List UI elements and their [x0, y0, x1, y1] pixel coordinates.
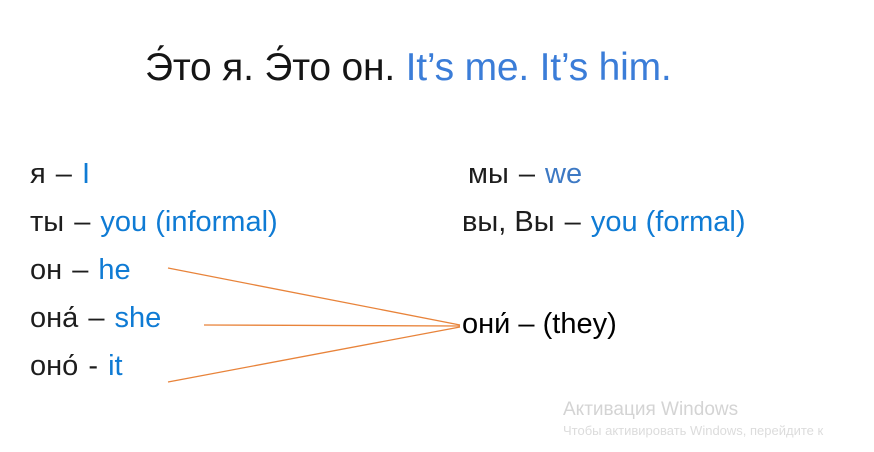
separator-dash: –	[563, 206, 583, 238]
pronoun-ru-on: он	[30, 254, 62, 286]
pronoun-row-on: он – he	[30, 246, 278, 294]
pronoun-ru-ya: я	[30, 158, 46, 190]
separator-hyphen: -	[86, 350, 100, 382]
pronoun-column-plural: мы – we вы, Вы – you (formal)	[462, 150, 746, 246]
separator-dash: –	[70, 254, 90, 286]
pronoun-row-ono: оно́ - it	[30, 342, 278, 390]
pronoun-ru-ty: ты	[30, 206, 64, 238]
title-russian: Э́то я. Э́то он.	[145, 46, 395, 89]
pronoun-row-ona: она́ – she	[30, 294, 278, 342]
separator-dash: –	[72, 206, 92, 238]
slide-canvas: Э́то я. Э́то он. It’s me. It’s him. я – …	[0, 0, 874, 452]
pronoun-en-ono: it	[108, 350, 123, 382]
pronoun-en-ona: she	[115, 302, 162, 334]
pronoun-row-ty: ты – you (informal)	[30, 198, 278, 246]
pronoun-row-my: мы – we	[462, 150, 746, 198]
pronoun-ru-ono: оно́	[30, 350, 78, 382]
title-english: It’s me. It’s him.	[406, 46, 672, 89]
pronoun-en-vy: you (formal)	[591, 206, 746, 238]
pronoun-en-ty: you (informal)	[100, 206, 277, 238]
separator-dash: –	[86, 302, 106, 334]
watermark-title: Активация Windows	[563, 398, 863, 422]
pronoun-en-on: he	[98, 254, 130, 286]
pronoun-en-oni: (they)	[543, 308, 617, 340]
pronoun-en-my: we	[545, 158, 582, 190]
separator-dash: –	[518, 308, 534, 340]
pronoun-row-oni: они́ – (they)	[462, 300, 617, 348]
pronoun-row-ya: я – I	[30, 150, 278, 198]
pronoun-ru-ona: она́	[30, 302, 78, 334]
pronoun-ru-vy: вы, Вы	[462, 206, 555, 238]
watermark-subtitle: Чтобы активировать Windows, перейдите к	[563, 422, 863, 440]
pronoun-en-ya: I	[82, 158, 90, 190]
separator-dash: –	[517, 158, 537, 190]
windows-activation-watermark: Активация Windows Чтобы активировать Win…	[563, 398, 863, 440]
pronoun-ru-oni: они́	[462, 308, 510, 340]
pronoun-ru-my: мы	[468, 158, 509, 190]
pronoun-row-vy: вы, Вы – you (formal)	[462, 198, 746, 246]
page-title: Э́то я. Э́то он. It’s me. It’s him.	[145, 44, 672, 92]
separator-dash: –	[54, 158, 74, 190]
pronoun-column-singular: я – I ты – you (informal) он – he она́ –…	[30, 150, 278, 390]
